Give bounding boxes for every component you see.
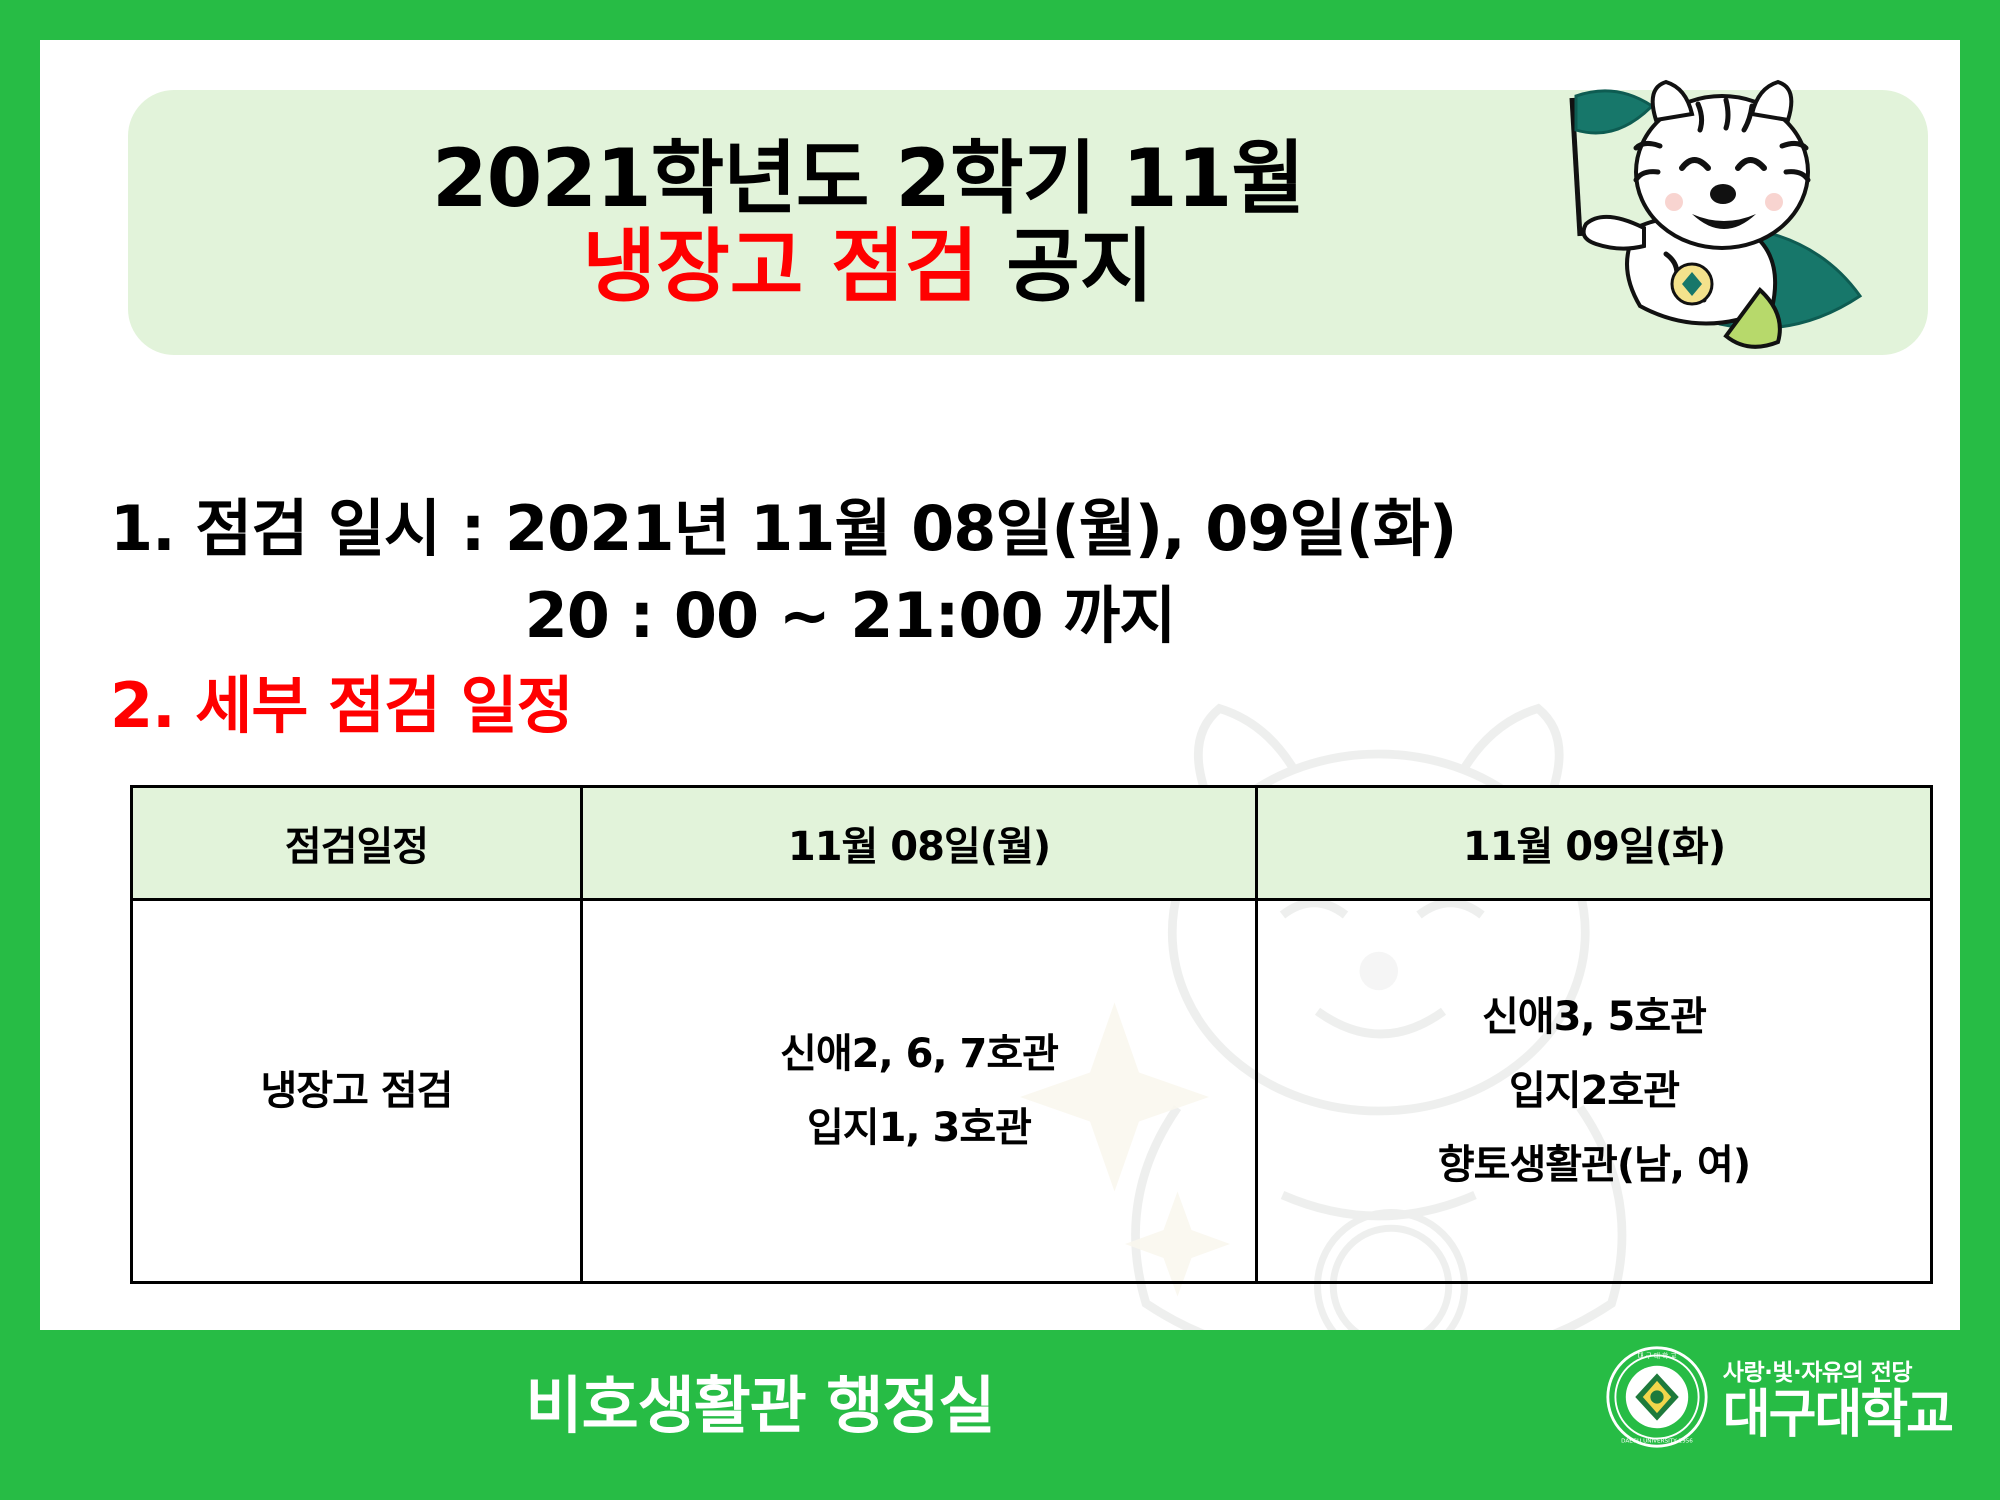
logo-ring-text-bottom: DAEGU UNIVERSITY 1956 [1621,1438,1693,1444]
logo-ring-text-top: 대 구 대 학 교 [1637,1351,1676,1360]
logo-tagline: 사랑·빛·자유의 전당 [1723,1353,1952,1387]
title-suffix: 공지 [978,220,1153,313]
item-1-schedule-time: 20 : 00 ~ 21:00 까지 [110,565,1590,655]
logo-text-block: 사랑·빛·자유의 전당 대구대학교 [1723,1353,1952,1441]
item-1-schedule-date: 1. 점검 일시 : 2021년 11월 08일(월), 09일(화) [110,478,1910,568]
item-2-detail-heading: 2. 세부 점검 일정 [110,655,573,745]
notice-slide: 2021학년도 2학기 11월 냉장고 점검 공지 [0,0,2000,1500]
schedule-table: 점검일정 11월 08일(월) 11월 09일(화) 냉장고 점검 신애2, 6… [130,785,1933,1284]
tiger-mascot-icon [1430,76,1900,376]
cell-line: 입지2호관 [1259,1054,1929,1128]
title-line-1: 2021학년도 2학기 11월 [432,137,1304,221]
table-header-row: 점검일정 11월 08일(월) 11월 09일(화) [132,787,1932,900]
table-row: 냉장고 점검 신애2, 6, 7호관 입지1, 3호관 신애3, 5호관 입지2… [132,900,1932,1283]
title-line-2: 냉장고 점검 공지 [583,225,1154,309]
cell-line: 향토생활관(남, 여) [1259,1128,1929,1202]
title-highlight: 냉장고 점검 [583,220,979,313]
table-header-cell-1: 11월 08일(월) [582,787,1257,900]
table-header-cell-2: 11월 09일(화) [1257,787,1932,900]
notice-page: 2021학년도 2학기 11월 냉장고 점검 공지 [40,40,1960,1330]
table-cell-tuesday: 신애3, 5호관 입지2호관 향토생활관(남, 여) [1257,900,1932,1283]
cell-line: 입지1, 3호관 [584,1091,1254,1165]
logo-university-name: 대구대학교 [1723,1389,1952,1441]
title-block: 2021학년도 2학기 11월 냉장고 점검 공지 [128,90,1608,355]
table-cell-monday: 신애2, 6, 7호관 입지1, 3호관 [582,900,1257,1283]
cell-line: 신애2, 6, 7호관 [584,1017,1254,1091]
daegu-university-logo-icon: 대 구 대 학 교 DAEGU UNIVERSITY 1956 [1605,1345,1709,1449]
table-cell-row-label: 냉장고 점검 [132,900,582,1283]
footer-office-name: 비호생활관 행정실 [0,1355,1520,1445]
university-logo: 대 구 대 학 교 DAEGU UNIVERSITY 1956 사랑·빛·자유의… [1605,1345,1952,1449]
cell-line: 신애3, 5호관 [1259,980,1929,1054]
table-header-cell-0: 점검일정 [132,787,582,900]
